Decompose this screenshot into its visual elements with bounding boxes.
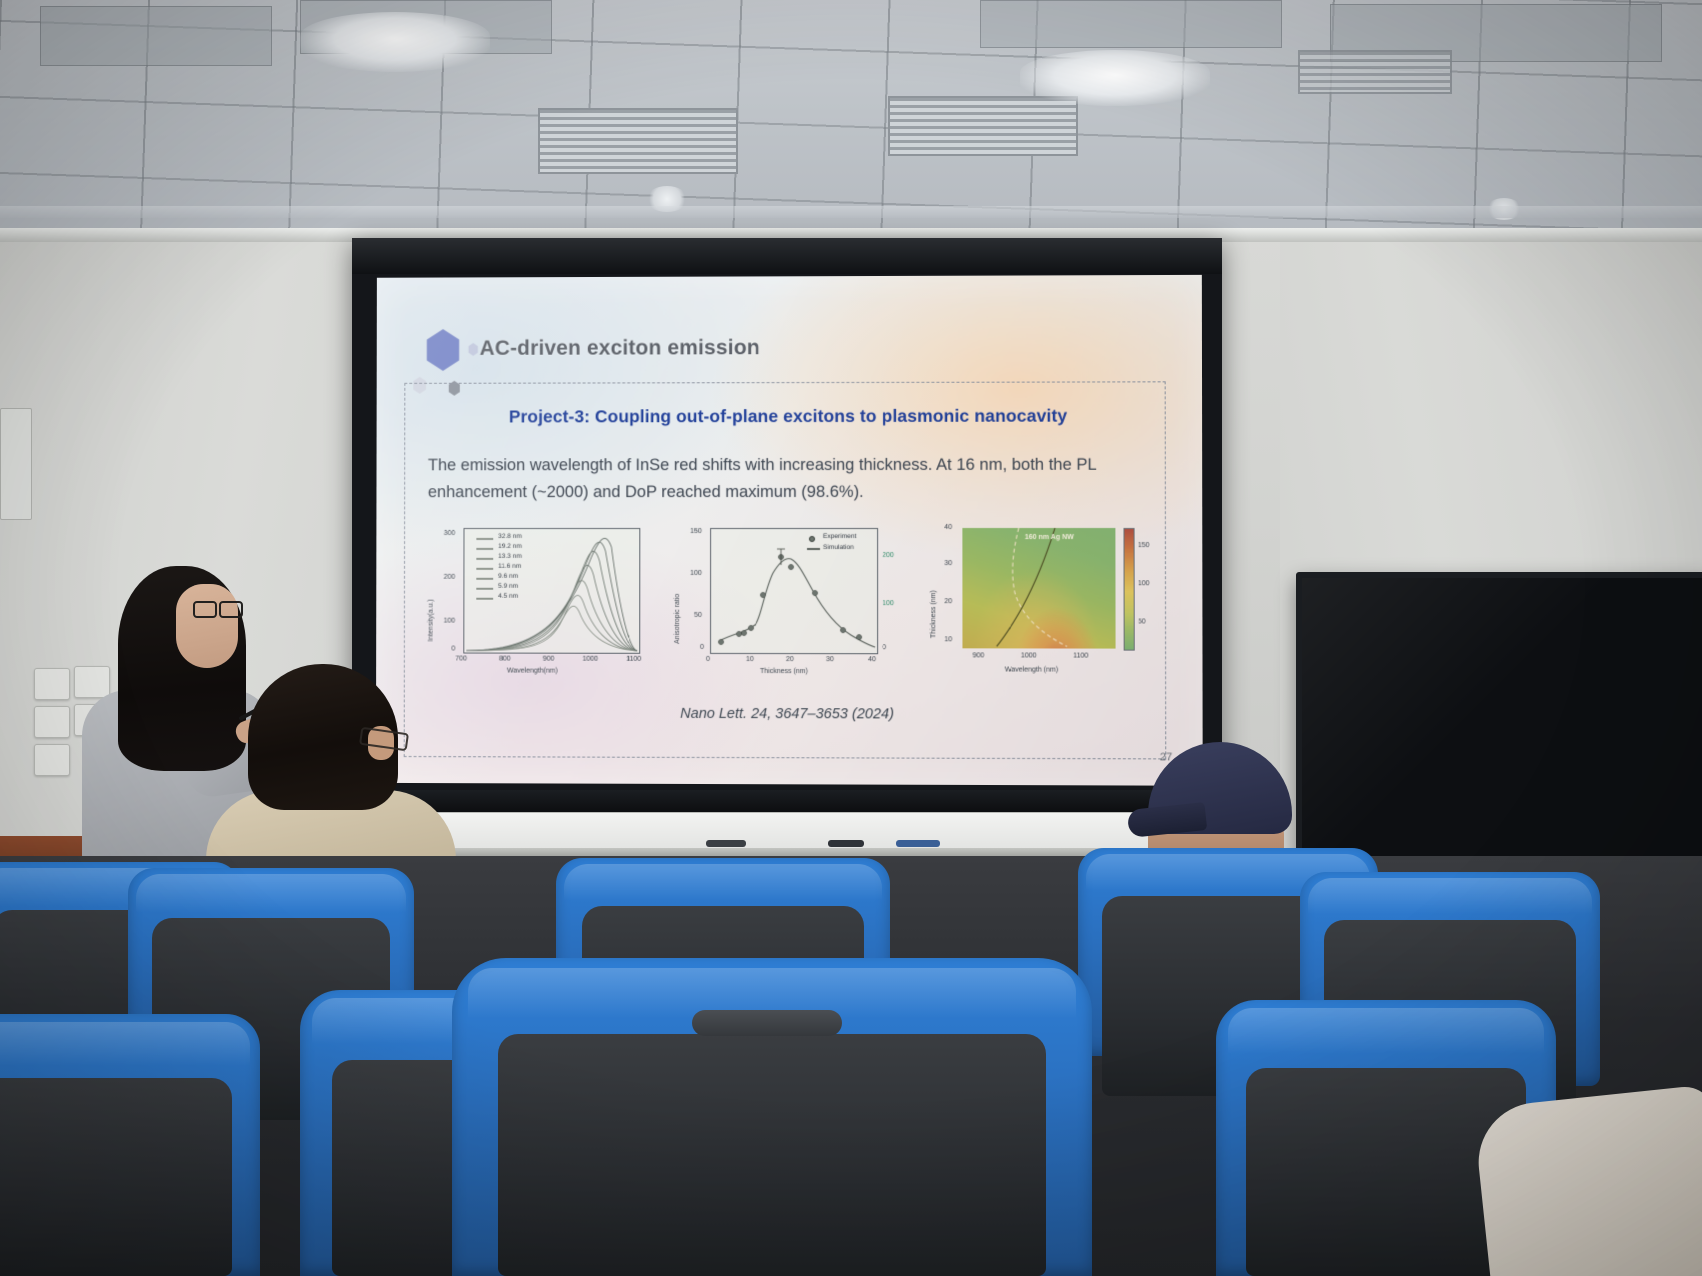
chart3-colorbar-tick: 150 [1138, 542, 1150, 549]
wall-outlet[interactable] [34, 668, 70, 700]
seat-handle[interactable] [692, 1010, 842, 1036]
draped-cloth [1473, 1084, 1702, 1276]
presenter-glasses-icon [193, 601, 241, 614]
presenter-face [176, 584, 238, 668]
chart1-legend-swatch [476, 548, 493, 550]
chart1-ytick-zero: 0 [451, 646, 455, 653]
chart2-plot-area: Experiment Simulation [710, 528, 878, 654]
chart3-colorbar-tick: 50 [1138, 618, 1146, 625]
chart1-legend-swatch [476, 578, 493, 580]
ceiling-light [300, 12, 490, 72]
ceiling-vent [1298, 50, 1452, 94]
chart3-ytick: 30 [944, 560, 952, 567]
chart3-ylabel: Thickness (nm) [930, 590, 937, 638]
chart2-ylabel: Anisotropic ratio [674, 594, 681, 644]
chart1-xtick: 700 [455, 655, 467, 662]
chart3-xtick: 1000 [1021, 652, 1037, 659]
ceiling [0, 0, 1702, 250]
wall-outlet[interactable] [34, 744, 70, 776]
wall-mounted-display[interactable] [1296, 572, 1702, 870]
chart2-xtick: 0 [706, 656, 710, 663]
chart2-right-ytick: 200 [882, 552, 894, 559]
chart3-ytick: 10 [944, 636, 952, 643]
seat-back-panel [0, 1078, 232, 1276]
chart1-legend-swatch [476, 598, 493, 600]
chart2-xtick: 40 [868, 656, 876, 663]
chart1-plot-area: 32.8 nm 19.2 nm 13.3 nm 11.6 nm 9.6 nm 5… [463, 528, 640, 654]
slide-header-title: AC-driven exciton emission [480, 336, 760, 361]
chart1-xlabel: Wavelength(nm) [507, 668, 558, 675]
whiteboard-marker[interactable] [896, 840, 940, 847]
chart3-ytick: 20 [944, 598, 952, 605]
whiteboard-marker[interactable] [706, 840, 746, 847]
chart1-xtick: 800 [499, 656, 511, 663]
chart-thickness-wavelength-map: Thickness (nm) 40 30 20 10 160 nm Ag NW … [926, 522, 1166, 683]
chart2-right-ytick: 100 [882, 600, 894, 607]
chart1-legend-swatch [476, 588, 493, 590]
chart1-xtick: 1100 [626, 656, 641, 663]
ceiling-tile [980, 0, 1282, 48]
whiteboard-marker[interactable] [828, 840, 864, 847]
chart-pl-spectra: Intensity(a.u.) 300 200 100 0 [422, 522, 647, 682]
seat[interactable] [452, 958, 1092, 1276]
hexagon-small-icon [468, 343, 479, 356]
hexagon-logo-icon [424, 329, 462, 371]
chart2-xtick: 10 [746, 656, 754, 663]
chart2-legend-swatch [807, 548, 820, 550]
chart3-overlay-curves [962, 528, 1115, 649]
chart-anisotropic-ratio: Anisotropic ratio 150 100 50 0 [668, 522, 904, 682]
ceiling-light [1020, 50, 1210, 106]
chart2-legend-marker [809, 536, 815, 542]
chart1-ytick: 200 [444, 574, 456, 581]
chart1-legend-label: 32.8 nm [498, 533, 522, 540]
ceiling-beam [0, 206, 1702, 218]
seat[interactable] [0, 1014, 260, 1276]
chart1-legend-swatch [476, 538, 493, 540]
chart1-legend-swatch [476, 558, 493, 560]
chart3-annotation: 160 nm Ag NW [1025, 534, 1074, 541]
chart2-ytick: 0 [700, 644, 704, 651]
ceiling-tile [40, 6, 272, 66]
seat-back-panel [498, 1034, 1046, 1276]
chart2-legend-label: Experiment [823, 533, 856, 540]
chart2-ytick: 100 [690, 570, 702, 577]
chart1-legend-label: 19.2 nm [498, 543, 522, 550]
chart1-xtick: 1000 [582, 656, 598, 663]
projector-screen-top-bar [352, 238, 1222, 274]
chart2-xtick: 30 [826, 656, 834, 663]
photo-scene: AC-driven exciton emission Project-3: Co… [0, 0, 1702, 1276]
chart2-ytick: 50 [694, 612, 702, 619]
chart1-legend-label: 11.6 nm [498, 563, 521, 570]
wall-outlet[interactable] [34, 706, 70, 738]
presentation-slide: AC-driven exciton emission Project-3: Co… [376, 275, 1203, 786]
chart1-ylabel: Intensity(a.u.) [428, 599, 435, 641]
chart3-xtick: 900 [973, 652, 985, 659]
slide-citation: Nano Lett. 24, 3647–3653 (2024) [376, 705, 1203, 723]
chart3-xtick: 1100 [1073, 653, 1088, 660]
chart3-ytick: 40 [944, 524, 952, 531]
chart1-xtick: 900 [543, 656, 555, 663]
slide-body-text: The emission wavelength of InSe red shif… [428, 452, 1164, 506]
chart1-legend-swatch [476, 568, 493, 570]
chart1-ytick: 300 [444, 530, 456, 537]
chart1-legend-label: 5.9 nm [498, 583, 518, 590]
chart1-legend-label: 13.3 nm [498, 553, 522, 560]
chart3-heatmap-area: 160 nm Ag NW [962, 528, 1115, 649]
slide-project-title: Project-3: Coupling out-of-plane exciton… [377, 405, 1203, 427]
chart2-xlabel: Thickness (nm) [760, 668, 808, 675]
chart3-colorbar-tick: 100 [1138, 580, 1150, 587]
chart3-colorbar [1123, 528, 1134, 651]
ceiling-vent [538, 108, 738, 174]
wall-outlet[interactable] [74, 666, 110, 698]
ceiling-vent [888, 96, 1078, 156]
chart2-xtick: 20 [786, 656, 794, 663]
chart3-xlabel: Wavelength (nm) [1005, 666, 1058, 673]
wall-panel [0, 408, 32, 520]
chart2-ytick: 150 [690, 528, 702, 535]
display-glare [1302, 578, 1702, 864]
chart2-legend-label: Simulation [823, 544, 854, 551]
chart2-right-ytick: 0 [882, 644, 886, 651]
chart1-legend-label: 9.6 nm [498, 573, 518, 580]
chart1-legend-label: 4.5 nm [498, 593, 518, 600]
slide-figure-row: Intensity(a.u.) 300 200 100 0 [412, 522, 1166, 683]
chart1-ytick: 100 [444, 618, 456, 625]
